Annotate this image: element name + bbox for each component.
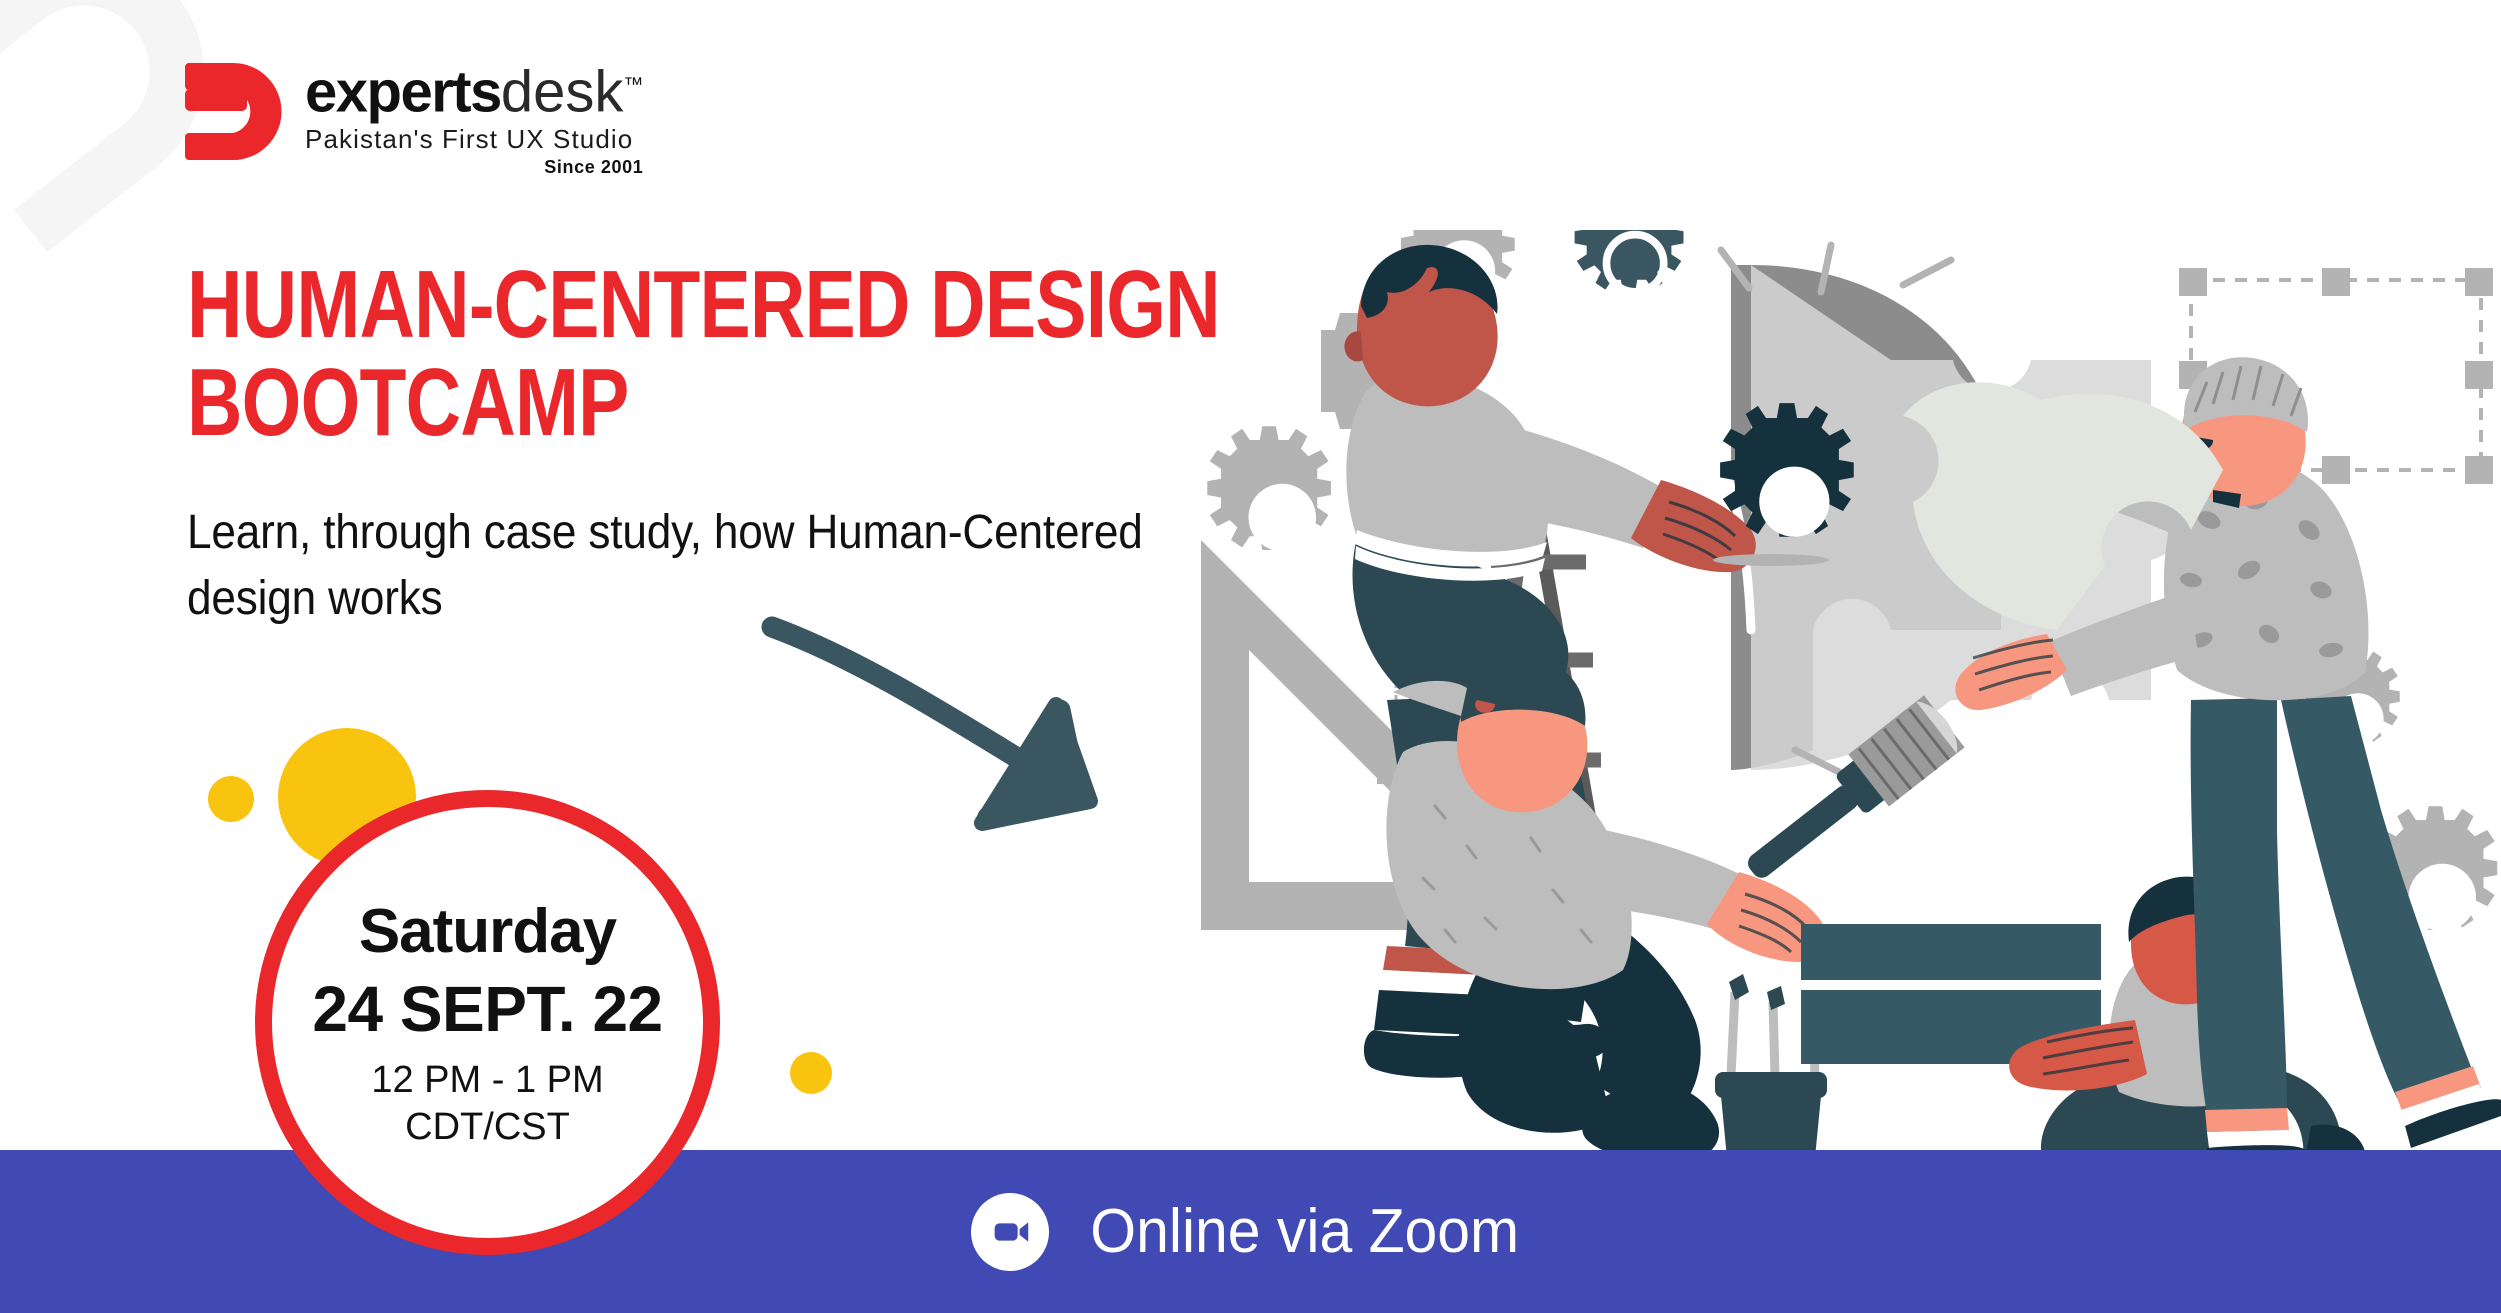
page-title: HUMAN-CENTERED DESIGN BOOTCAMP [187, 256, 1220, 452]
trademark-symbol: ™ [623, 74, 643, 96]
date-day: Saturday [359, 896, 616, 968]
team-building-design-illustration [1191, 230, 2501, 1160]
gear-teal [1575, 230, 1684, 292]
yellow-dot-small [208, 776, 254, 822]
curved-arrow-down-right-icon [760, 605, 1190, 855]
date-timezone: CDT/CST [405, 1104, 570, 1150]
date-full: 24 SEPT. 22 [312, 968, 662, 1050]
brand-logo[interactable]: expertsdesk™ Pakistan's First UX Studio … [185, 55, 643, 178]
gear-shadow [1713, 554, 1829, 566]
brand-tagline: Pakistan's First UX Studio [305, 124, 643, 155]
date-time: 12 PM - 1 PM [371, 1056, 603, 1104]
brand-wordmark: expertsdesk™ [305, 55, 643, 122]
brand-name-light: desk [501, 59, 624, 124]
yellow-dot-small [790, 1052, 832, 1094]
experts-desk-d-mark-icon [185, 59, 283, 164]
date-badge: Saturday 24 SEPT. 22 12 PM - 1 PM CDT/CS… [255, 790, 720, 1255]
brand-name-bold: experts [305, 59, 501, 124]
brand-since: Since 2001 [305, 157, 643, 178]
